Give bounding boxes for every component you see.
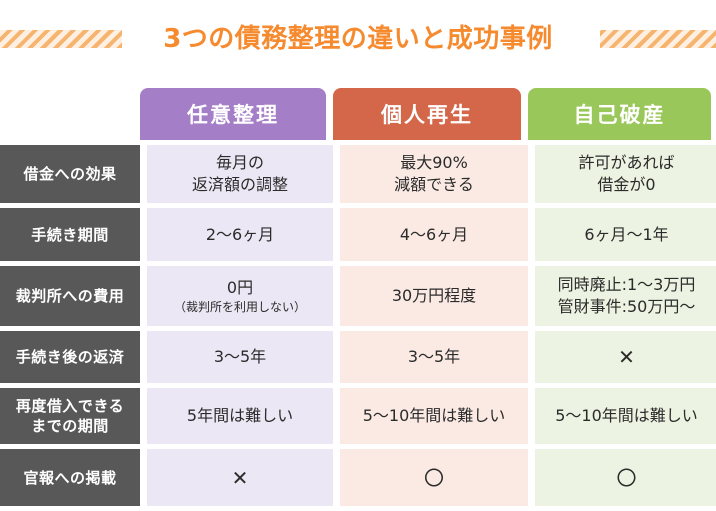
column-header-kojin-saisei: 個人再生 bbox=[333, 88, 521, 140]
table-row: 裁判所への費用 0円 （裁判所を利用しない） 30万円程度 同時廃止:1〜3万円… bbox=[0, 266, 716, 326]
cell-r6c2: 〇 bbox=[340, 449, 528, 506]
table-row: 手続き後の返済 3〜5年 3〜5年 ✕ bbox=[0, 331, 716, 383]
cell-r5c1: 5年間は難しい bbox=[147, 388, 333, 444]
cell-line: 最大90% bbox=[400, 152, 468, 174]
cell-r3c1: 0円 （裁判所を利用しない） bbox=[147, 266, 333, 326]
cell-subnote: （裁判所を利用しない） bbox=[174, 299, 306, 316]
cell-gap bbox=[528, 208, 535, 261]
cell-r6c3: 〇 bbox=[535, 449, 716, 506]
cell-gap bbox=[333, 266, 340, 326]
table-body: 借金への効果 毎月の 返済額の調整 最大90% 減額できる 許可があれば 借金が… bbox=[0, 145, 716, 506]
cell-line: 2〜6ヶ月 bbox=[206, 224, 274, 246]
cross-icon: ✕ bbox=[618, 346, 635, 368]
cell-line: 0円 bbox=[227, 277, 253, 299]
cell-gap bbox=[528, 266, 535, 326]
cell-line: 6ヶ月〜1年 bbox=[584, 224, 668, 246]
cell-r5c3: 5〜10年間は難しい bbox=[535, 388, 716, 444]
cell-gap bbox=[140, 145, 147, 203]
cell-line: 減額できる bbox=[394, 174, 474, 196]
cell-line: 許可があれば bbox=[578, 152, 674, 174]
cell-r1c2: 最大90% 減額できる bbox=[340, 145, 528, 203]
cell-gap bbox=[528, 449, 535, 506]
cell-gap bbox=[333, 331, 340, 383]
circle-icon: 〇 bbox=[617, 467, 637, 489]
row-label: 再度借入できる までの期間 bbox=[0, 388, 140, 444]
cell-line: 5〜10年間は難しい bbox=[363, 405, 506, 427]
cell-gap bbox=[140, 208, 147, 261]
page-title: 3つの債務整理の違いと成功事例 bbox=[0, 22, 716, 56]
row-label: 借金への効果 bbox=[0, 145, 140, 203]
row-label-line: 再度借入できる bbox=[16, 397, 124, 415]
cell-r4c2: 3〜5年 bbox=[340, 331, 528, 383]
cell-line: 返済額の調整 bbox=[192, 174, 288, 196]
column-header-nini-seiri: 任意整理 bbox=[140, 88, 326, 140]
row-label: 手続き期間 bbox=[0, 208, 140, 261]
cell-r3c2: 30万円程度 bbox=[340, 266, 528, 326]
comparison-table: 任意整理 個人再生 自己破産 借金への効果 毎月の 返済額の調整 最大90% 減… bbox=[0, 88, 716, 511]
column-header-jiko-hasan: 自己破産 bbox=[528, 88, 711, 140]
cell-r4c1: 3〜5年 bbox=[147, 331, 333, 383]
row-label: 裁判所への費用 bbox=[0, 266, 140, 326]
table-row: 借金への効果 毎月の 返済額の調整 最大90% 減額できる 許可があれば 借金が… bbox=[0, 145, 716, 203]
cell-r2c1: 2〜6ヶ月 bbox=[147, 208, 333, 261]
cell-r2c2: 4〜6ヶ月 bbox=[340, 208, 528, 261]
cell-gap bbox=[528, 388, 535, 444]
cell-r2c3: 6ヶ月〜1年 bbox=[535, 208, 716, 261]
row-label: 手続き後の返済 bbox=[0, 331, 140, 383]
cell-gap bbox=[140, 266, 147, 326]
table-row: 手続き期間 2〜6ヶ月 4〜6ヶ月 6ヶ月〜1年 bbox=[0, 208, 716, 261]
header-gap-2 bbox=[521, 88, 528, 140]
cell-line: 管財事件:50万円〜 bbox=[558, 296, 696, 318]
table-row: 再度借入できる までの期間 5年間は難しい 5〜10年間は難しい 5〜10年間は… bbox=[0, 388, 716, 444]
circle-icon: 〇 bbox=[424, 467, 444, 489]
cell-line: 30万円程度 bbox=[392, 285, 476, 307]
table-header-row: 任意整理 個人再生 自己破産 bbox=[140, 88, 716, 140]
cell-gap bbox=[333, 145, 340, 203]
cell-gap bbox=[140, 449, 147, 506]
row-label: 官報への掲載 bbox=[0, 449, 140, 506]
cell-line: 借金が0 bbox=[597, 174, 655, 196]
cell-r3c3: 同時廃止:1〜3万円 管財事件:50万円〜 bbox=[535, 266, 716, 326]
cell-r5c2: 5〜10年間は難しい bbox=[340, 388, 528, 444]
cell-gap bbox=[333, 449, 340, 506]
table-row: 官報への掲載 ✕ 〇 〇 bbox=[0, 449, 716, 506]
cell-line: 5〜10年間は難しい bbox=[555, 405, 698, 427]
cell-gap bbox=[140, 331, 147, 383]
cell-r1c1: 毎月の 返済額の調整 bbox=[147, 145, 333, 203]
cell-r1c3: 許可があれば 借金が0 bbox=[535, 145, 716, 203]
cell-gap bbox=[333, 388, 340, 444]
cell-gap bbox=[333, 208, 340, 261]
header-gap-1 bbox=[326, 88, 333, 140]
row-label-line: までの期間 bbox=[31, 417, 109, 435]
cell-line: 5年間は難しい bbox=[187, 405, 293, 427]
cell-r6c1: ✕ bbox=[147, 449, 333, 506]
cell-gap bbox=[140, 388, 147, 444]
title-band: 3つの債務整理の違いと成功事例 bbox=[0, 0, 716, 80]
cell-gap bbox=[528, 145, 535, 203]
cross-icon: ✕ bbox=[232, 467, 249, 489]
cell-line: 同時廃止:1〜3万円 bbox=[558, 274, 696, 296]
cell-gap bbox=[528, 331, 535, 383]
cell-line: 3〜5年 bbox=[408, 346, 460, 368]
cell-line: 4〜6ヶ月 bbox=[400, 224, 468, 246]
cell-line: 毎月の bbox=[216, 152, 264, 174]
cell-line: 3〜5年 bbox=[214, 346, 266, 368]
cell-r4c3: ✕ bbox=[535, 331, 716, 383]
